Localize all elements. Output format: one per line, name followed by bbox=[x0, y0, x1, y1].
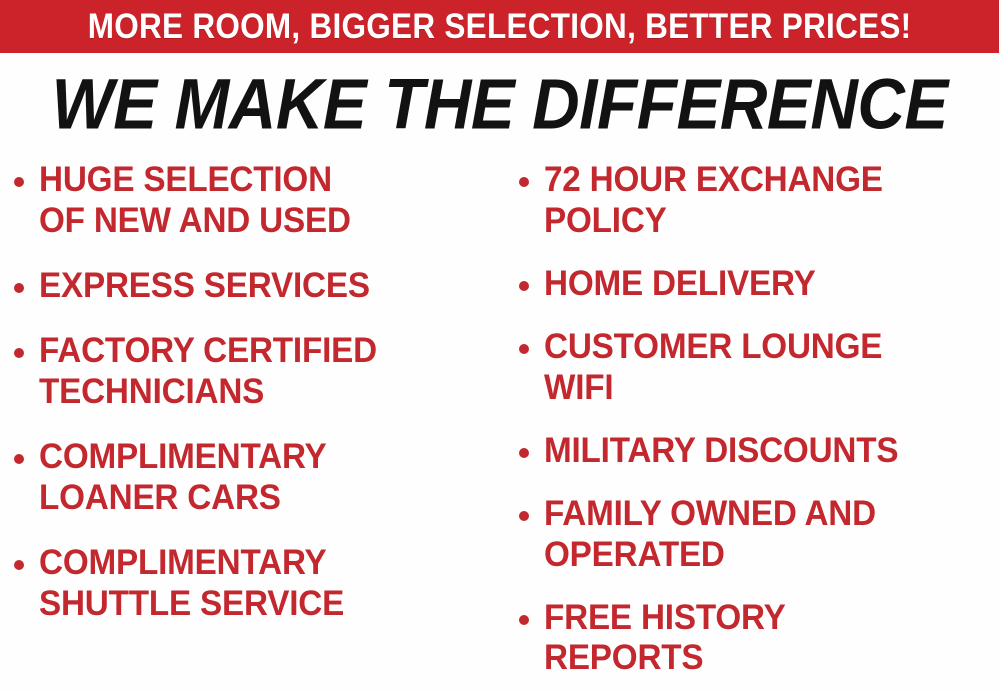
list-item: CUSTOMER LOUNGE WIFI bbox=[519, 327, 999, 409]
bullet-dot-icon bbox=[14, 283, 24, 293]
list-item: EXPRESS SERVICES bbox=[14, 266, 504, 307]
bullet-dot-icon bbox=[519, 448, 529, 458]
list-item: FAMILY OWNED AND OPERATED bbox=[519, 494, 999, 576]
bullet-dot-icon bbox=[519, 615, 529, 625]
bullet-dot-icon bbox=[14, 560, 24, 570]
bullet-dot-icon bbox=[519, 511, 529, 521]
list-item-label: COMPLIMENTARY SHUTTLE SERVICE bbox=[39, 543, 344, 625]
bullet-dot-icon bbox=[14, 348, 24, 358]
list-item: COMPLIMENTARY SHUTTLE SERVICE bbox=[14, 543, 504, 625]
page-title: WE MAKE THE DIFFERENCE bbox=[51, 68, 947, 139]
list-item-label: FAMILY OWNED AND OPERATED bbox=[544, 494, 876, 576]
header-tagline: MORE ROOM, BIGGER SELECTION, BETTER PRIC… bbox=[88, 9, 912, 44]
list-item-label: MILITARY DISCOUNTS bbox=[544, 431, 898, 472]
list-item: COMPLIMENTARY LOANER CARS bbox=[14, 437, 504, 519]
promotional-banner: MORE ROOM, BIGGER SELECTION, BETTER PRIC… bbox=[0, 0, 999, 692]
bullet-dot-icon bbox=[519, 344, 529, 354]
list-item: HOME DELIVERY bbox=[519, 264, 999, 305]
list-item-label: EXPRESS SERVICES bbox=[39, 266, 370, 307]
list-item: FACTORY CERTIFIED TECHNICIANS bbox=[14, 331, 504, 413]
list-item-label: CUSTOMER LOUNGE WIFI bbox=[544, 327, 882, 409]
bullet-dot-icon bbox=[14, 177, 24, 187]
title-container: WE MAKE THE DIFFERENCE bbox=[0, 66, 999, 142]
list-item: HUGE SELECTION OF NEW AND USED bbox=[14, 160, 504, 242]
list-item-label: HOME DELIVERY bbox=[544, 264, 816, 305]
bullet-dot-icon bbox=[14, 454, 24, 464]
list-item-label: FACTORY CERTIFIED TECHNICIANS bbox=[39, 331, 377, 413]
list-item: MILITARY DISCOUNTS bbox=[519, 431, 999, 472]
features-column-left: HUGE SELECTION OF NEW AND USED EXPRESS S… bbox=[14, 160, 504, 648]
bullet-dot-icon bbox=[519, 177, 529, 187]
list-item: 72 HOUR EXCHANGE POLICY bbox=[519, 160, 999, 242]
bullet-dot-icon bbox=[519, 281, 529, 291]
header-banner-bar: MORE ROOM, BIGGER SELECTION, BETTER PRIC… bbox=[0, 0, 999, 53]
features-column-right: 72 HOUR EXCHANGE POLICY HOME DELIVERY CU… bbox=[519, 160, 999, 692]
list-item: FREE HISTORY REPORTS bbox=[519, 598, 999, 680]
list-item-label: FREE HISTORY REPORTS bbox=[544, 598, 786, 680]
list-item-label: 72 HOUR EXCHANGE POLICY bbox=[544, 160, 883, 242]
list-item-label: HUGE SELECTION OF NEW AND USED bbox=[39, 160, 351, 242]
list-item-label: COMPLIMENTARY LOANER CARS bbox=[39, 437, 327, 519]
